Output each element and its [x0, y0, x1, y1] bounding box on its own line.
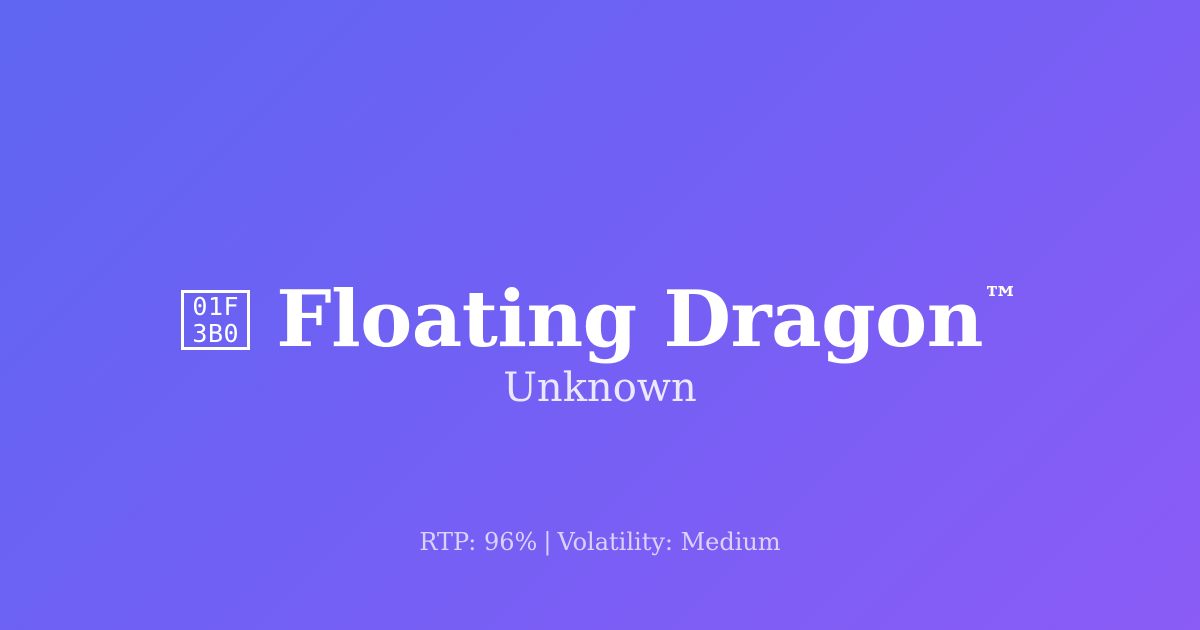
tofu-codepoint-bottom: 3B0	[192, 321, 239, 346]
game-share-card: 01F 3B0 Floating Dragon™ Unknown RTP: 96…	[0, 0, 1200, 630]
game-meta-line: RTP: 96%|Volatility: Medium	[0, 527, 1200, 558]
page-title: Floating Dragon™	[276, 281, 1019, 359]
meta-separator: |	[537, 528, 557, 556]
game-title-text: Floating Dragon	[276, 274, 983, 365]
tofu-codepoint-top: 01F	[192, 294, 239, 319]
trademark-symbol: ™	[983, 279, 1019, 321]
game-provider-label: Unknown	[0, 364, 1200, 412]
slot-machine-icon: 01F 3B0	[181, 290, 250, 350]
rtp-value: RTP: 96%	[419, 528, 537, 556]
volatility-value: Volatility: Medium	[557, 528, 780, 556]
